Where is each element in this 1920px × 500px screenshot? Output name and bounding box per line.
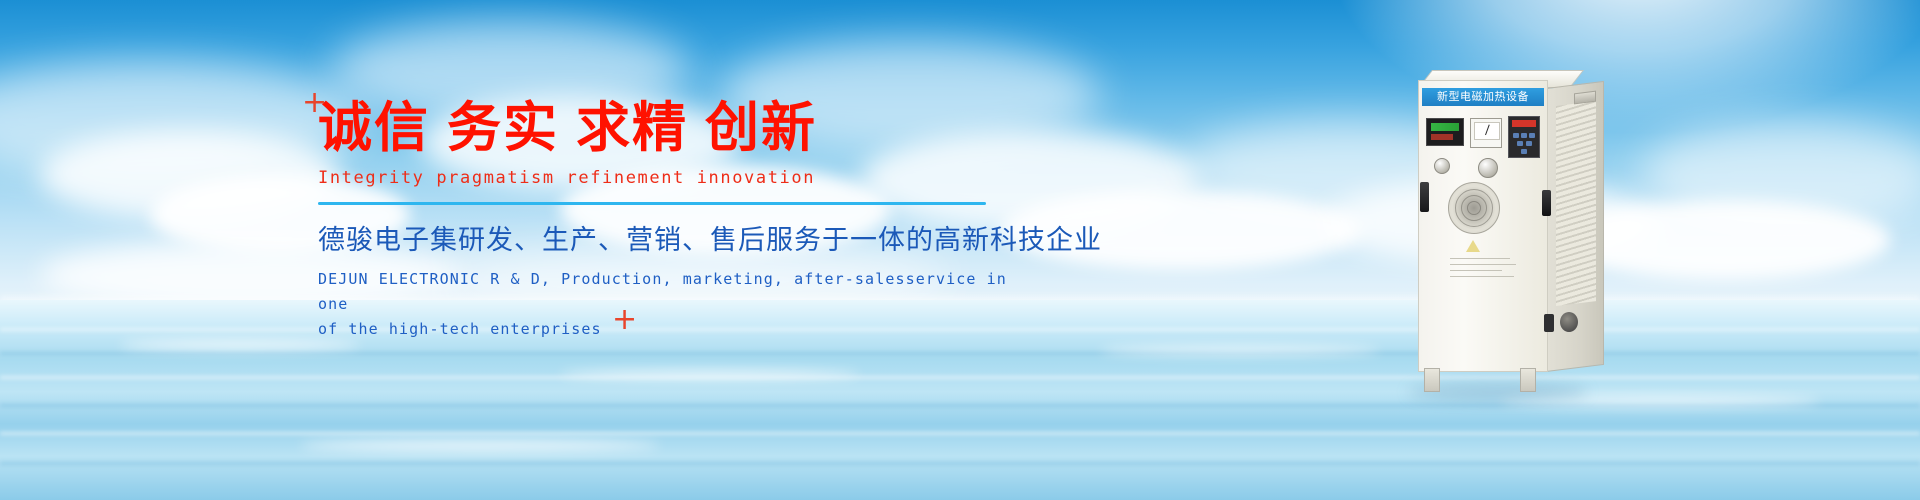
plus-decoration-icon: +	[612, 305, 637, 335]
machine-port	[1544, 314, 1554, 332]
subtitle-english-line1: DEJUN ELECTRONIC R & D, Production, mark…	[318, 267, 1018, 317]
subtitle-english-line2: of the high-tech enterprises	[318, 317, 1018, 342]
product-image-heating-machine: 新型电磁加热设备	[1398, 62, 1612, 392]
tagline-english: Integrity pragmatism refinement innovati…	[318, 168, 1018, 188]
hero-banner: 诚信 务实 求精 创新 Integrity pragmatism refinem…	[0, 0, 1920, 500]
machine-foot	[1520, 368, 1536, 392]
machine-knob	[1478, 158, 1498, 178]
machine-caution-text	[1450, 258, 1516, 282]
machine-analog-gauge	[1470, 118, 1502, 148]
cloud	[1640, 120, 1920, 230]
page-title: 诚信 务实 求精 创新	[318, 96, 1018, 160]
subtitle-chinese: 德骏电子集研发、生产、营销、售后服务于一体的高新科技企业	[318, 223, 1018, 257]
plus-decoration-icon: +	[302, 88, 327, 118]
machine-cooling-fan	[1448, 182, 1500, 234]
machine-vent-grille	[1556, 101, 1596, 306]
machine-foot	[1424, 368, 1440, 392]
machine-digital-display	[1426, 118, 1464, 146]
divider	[318, 202, 986, 205]
machine-door-handle	[1542, 190, 1551, 216]
banner-text-block: 诚信 务实 求精 创新 Integrity pragmatism refinem…	[318, 96, 1018, 342]
warning-triangle-icon	[1466, 240, 1480, 252]
product-label: 新型电磁加热设备	[1422, 88, 1544, 106]
machine-port	[1560, 312, 1578, 332]
machine-knob	[1434, 158, 1450, 174]
machine-control-keypad	[1508, 116, 1540, 158]
machine-vertical-slot	[1420, 182, 1429, 212]
